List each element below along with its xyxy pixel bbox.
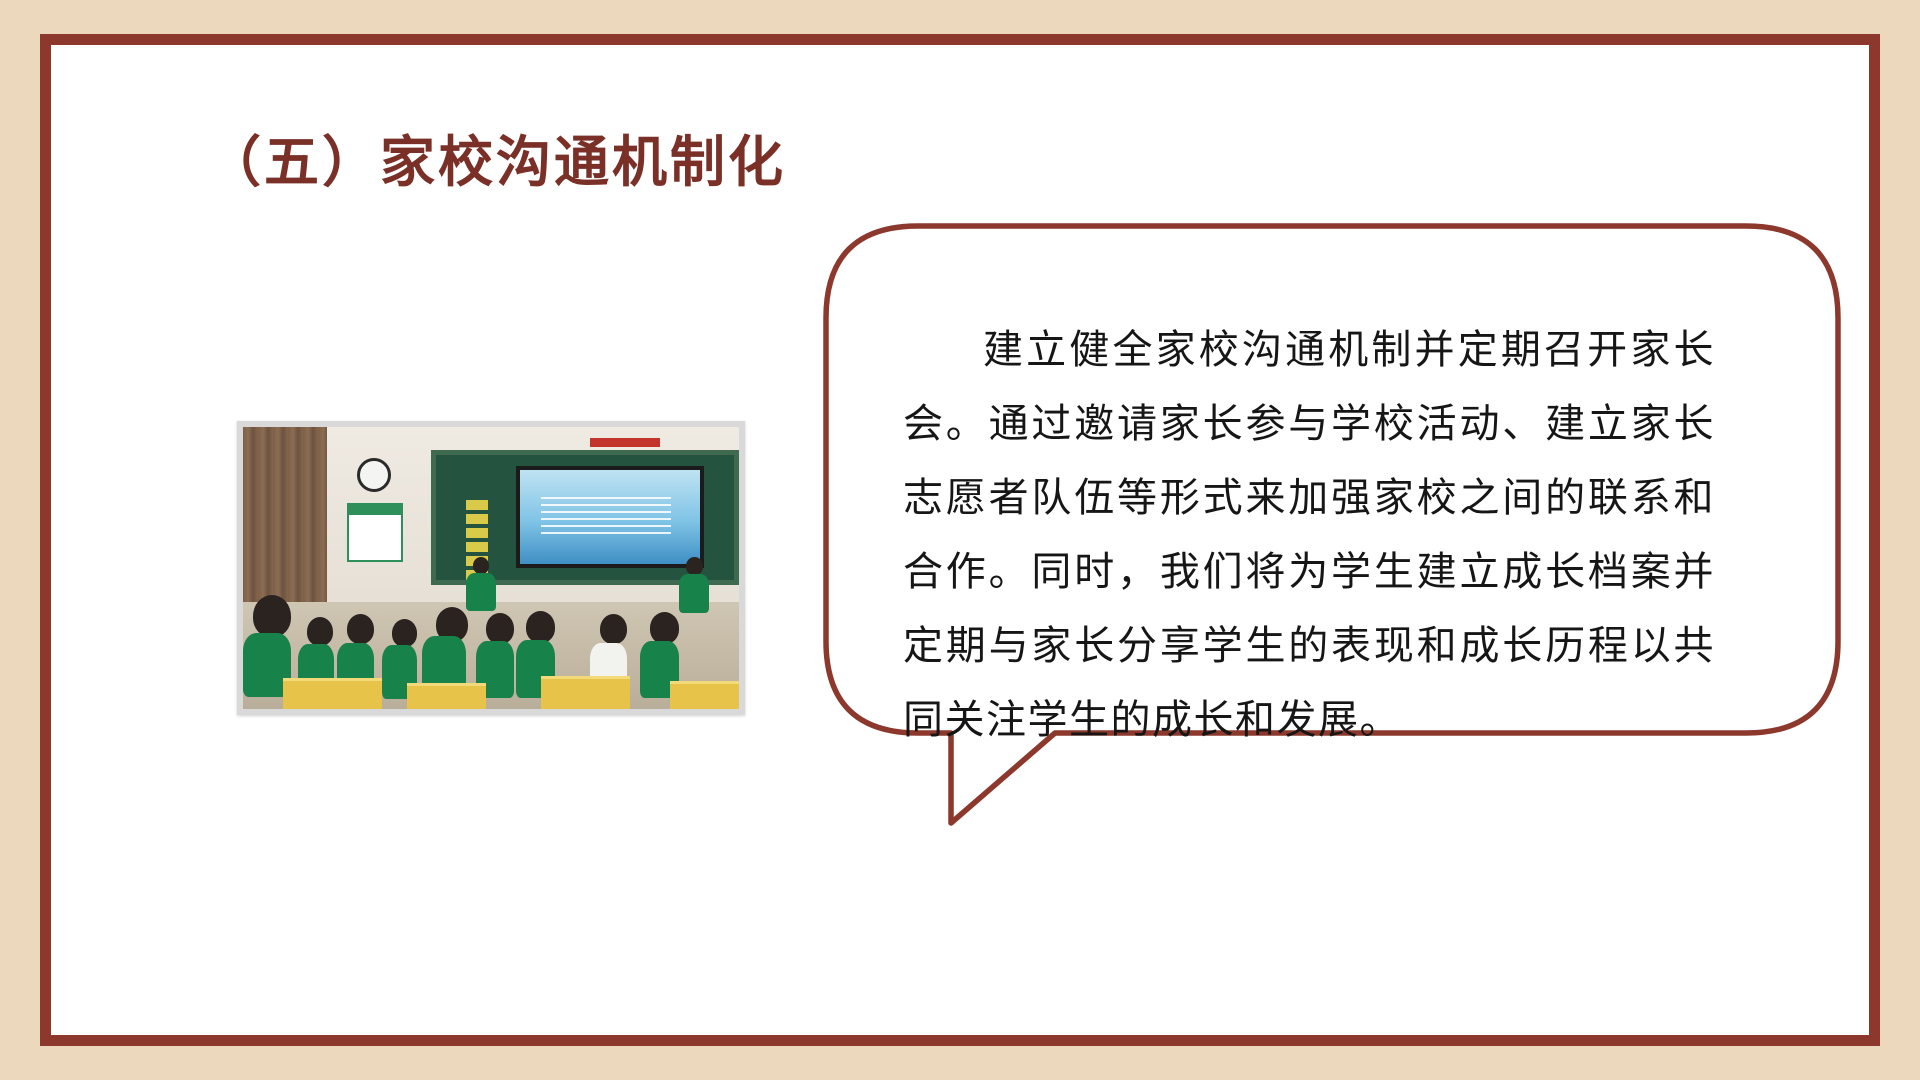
page-title: （五）家校沟通机制化 — [206, 131, 786, 194]
photo-wall-chart — [347, 503, 403, 562]
slide-canvas: （五）家校沟通机制化 — [0, 0, 1920, 1080]
photo-wall-clock — [357, 458, 391, 492]
photo-curtain — [243, 427, 327, 602]
classroom-photo — [243, 427, 739, 709]
slide-content-card: （五）家校沟通机制化 — [40, 34, 1880, 1046]
classroom-photo-frame — [237, 421, 745, 715]
photo-red-banner — [590, 438, 659, 447]
photo-projector-screen — [516, 466, 704, 568]
bubble-body-text: 建立健全家校沟通机制并定期召开家长会。通过邀请家长参与学校活动、建立家长志愿者队… — [903, 313, 1715, 757]
photo-student-row — [243, 591, 739, 709]
